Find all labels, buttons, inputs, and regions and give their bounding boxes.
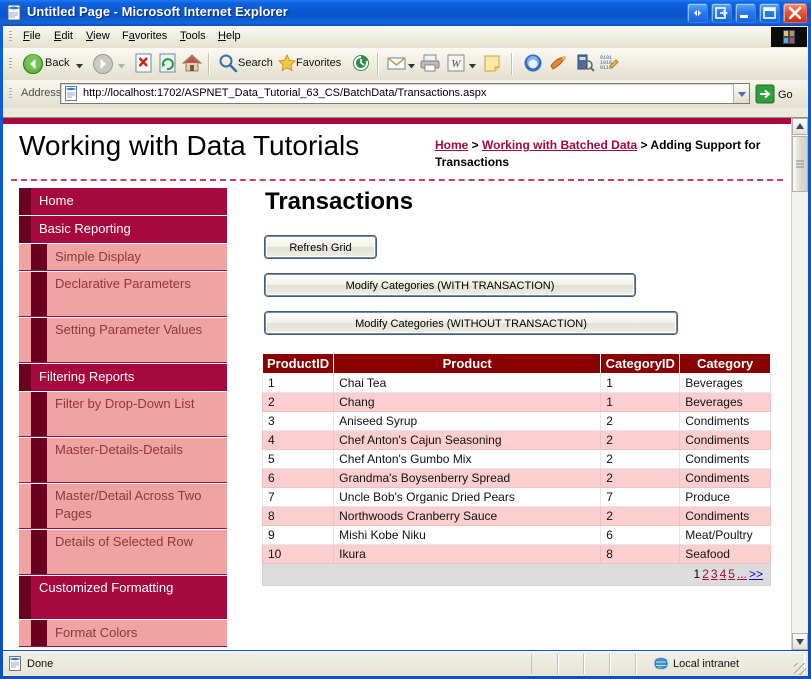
main-content: Transactions Refresh Grid Modify Categor… [251, 188, 771, 232]
cell-productid: 8 [263, 507, 334, 526]
cell-product: Northwoods Cranberry Sauce [334, 507, 601, 526]
breadcrumb-link-home[interactable]: Home [435, 138, 468, 152]
sidebar-item-filter-by-drop-down-list[interactable]: Filter by Drop-Down List [19, 392, 227, 437]
table-row: 2Chang1Beverages [263, 393, 771, 412]
menu-bar: File Edit View Favorites Tools Help [3, 26, 808, 48]
table-row: 10Ikura8Seafood [263, 545, 771, 564]
cell-category: Condiments [680, 507, 771, 526]
cell-category: Condiments [680, 450, 771, 469]
sidebar-item-accent [31, 438, 47, 482]
status-bar: Done Local intranet [3, 651, 808, 676]
table-row: 9Mishi Kobe Niku6Meat/Poultry [263, 526, 771, 545]
address-bar: Address http://localhost:1702/ASPNET_Dat… [3, 80, 808, 108]
favorites-star-icon[interactable] [276, 52, 298, 76]
sidebar-item-label: Filter by Drop-Down List [55, 395, 219, 413]
cell-productid: 10 [263, 545, 334, 564]
cell-product: Ikura [334, 545, 601, 564]
stop-button[interactable] [133, 52, 155, 76]
scroll-up-button[interactable] [792, 118, 808, 135]
home-button[interactable] [181, 52, 203, 76]
sidebar-item-accent [19, 188, 31, 215]
status-segment-4 [609, 654, 637, 674]
history-icon[interactable] [350, 52, 372, 76]
cell-product: Grandma's Boysenberry Spread [334, 469, 601, 488]
table-row: 1Chai Tea1Beverages [263, 374, 771, 393]
pager-page-ellipsisellipsisellipsis[interactable]: ... [737, 567, 747, 581]
col-header-product[interactable]: Product [334, 354, 601, 374]
sidebar-item-setting-parameter-values[interactable]: Setting Parameter Values [19, 318, 227, 363]
cell-product: Uncle Bob's Organic Dried Pears [334, 488, 601, 507]
scrollbar-thumb[interactable] [792, 136, 808, 192]
cell-category: Beverages [680, 374, 771, 393]
table-row: 5Chef Anton's Gumbo Mix2Condiments [263, 450, 771, 469]
cell-categoryid: 7 [601, 488, 680, 507]
cell-productid: 9 [263, 526, 334, 545]
browser-window: Untitled Page - Microsoft Internet Explo… [0, 0, 811, 679]
minimize-button[interactable] [735, 3, 756, 23]
cell-product: Chang [334, 393, 601, 412]
cell-productid: 7 [263, 488, 334, 507]
toolbar-separator [208, 53, 210, 75]
cell-categoryid: 2 [601, 450, 680, 469]
edit-with-word-icon[interactable]: W [445, 52, 467, 76]
ie-brand-logo [771, 27, 807, 47]
sidebar-item-label: Simple Display [55, 248, 141, 266]
window-title: Untitled Page - Microsoft Internet Explo… [27, 4, 288, 19]
col-header-category[interactable]: Category [680, 354, 771, 374]
grid-header-row: ProductID Product CategoryID Category [263, 354, 771, 374]
cell-product: Aniseed Syrup [334, 412, 601, 431]
cell-product: Chef Anton's Gumbo Mix [334, 450, 601, 469]
sidebar-item-label: Setting Parameter Values [55, 321, 219, 339]
go-button[interactable] [755, 84, 775, 109]
page-favicon-icon [64, 86, 79, 101]
grid-pager-row: 12345...>> [263, 564, 771, 586]
cell-category: Seafood [680, 545, 771, 564]
print-icon[interactable] [419, 52, 441, 76]
favorites-label[interactable]: Favorites [296, 57, 341, 69]
pager-page-2[interactable]: 2 [702, 567, 709, 581]
sidebar-item-accent [31, 620, 47, 646]
notes-icon[interactable] [481, 52, 503, 76]
sidebar-item-label: Master-Details-Details [55, 441, 219, 459]
menu-favorites[interactable]: Favorites [122, 30, 167, 42]
cell-category: Beverages [680, 393, 771, 412]
cell-category: Condiments [680, 469, 771, 488]
table-row: 7Uncle Bob's Organic Dried Pears7Produce [263, 488, 771, 507]
forward-dropdown [117, 57, 126, 81]
go-label[interactable]: Go [778, 89, 793, 101]
page-vertical-scrollbar[interactable] [791, 118, 808, 650]
products-grid: ProductID Product CategoryID Category 1C… [262, 353, 771, 586]
cell-product: Mishi Kobe Niku [334, 526, 601, 545]
sidebar-item-accent [31, 318, 47, 362]
sidebar-item-accent [19, 216, 31, 243]
sidebar-item-label: Basic Reporting [39, 221, 131, 237]
sidebar-item-basic-reporting[interactable]: Basic Reporting [19, 216, 227, 243]
cell-categoryid: 2 [601, 507, 680, 526]
menu-file[interactable]: File [23, 30, 41, 42]
pager-page-3[interactable]: 3 [711, 567, 718, 581]
address-input[interactable]: http://localhost:1702/ASPNET_Data_Tutori… [60, 83, 750, 104]
pager-links: 12345...>> [693, 567, 764, 581]
breadcrumb: Home > Working with Batched Data > Addin… [435, 137, 765, 171]
cell-category: Produce [680, 488, 771, 507]
sidebar-item-accent [31, 484, 47, 528]
cell-product: Chef Anton's Cajun Seasoning [334, 431, 601, 450]
cell-categoryid: 1 [601, 393, 680, 412]
table-row: 4Chef Anton's Cajun Seasoning2Condiments [263, 431, 771, 450]
search-label[interactable]: Search [238, 57, 273, 69]
back-button[interactable] [21, 52, 45, 76]
ie-document-icon [6, 4, 23, 21]
pager-page-4[interactable]: 4 [720, 567, 727, 581]
status-segment-1 [531, 654, 559, 674]
breadcrumb-sep-2: > [637, 138, 650, 152]
window-resize-grip[interactable] [794, 663, 806, 675]
breadcrumb-sep-1: > [468, 138, 482, 152]
cell-category: Condiments [680, 412, 771, 431]
menu-help[interactable]: Help [218, 30, 241, 42]
col-header-productid[interactable]: ProductID [263, 354, 334, 374]
close-button[interactable] [783, 3, 807, 23]
edit-dropdown[interactable] [468, 57, 477, 81]
sidebar-item-label: Home [39, 193, 74, 209]
forward-button [91, 52, 115, 76]
security-zone-text: Local intranet [673, 658, 739, 670]
sidebar-item-format-colors[interactable]: Format Colors [19, 620, 227, 647]
back-label[interactable]: Back [45, 57, 69, 69]
sidebar-item-home[interactable]: Home [19, 188, 227, 215]
page-status-icon [8, 656, 23, 671]
addressbar-grip[interactable] [9, 88, 12, 100]
sidebar-item-label: Filtering Reports [39, 369, 134, 385]
sidebar-item-simple-display[interactable]: Simple Display [19, 244, 227, 271]
modify-categories-with-transaction-button[interactable]: Modify Categories (WITH TRANSACTION) [265, 274, 635, 296]
cell-product: Chai Tea [334, 374, 601, 393]
toolbar: Back [3, 48, 808, 80]
modify-categories-without-transaction-button[interactable]: Modify Categories (WITHOUT TRANSACTION) [265, 312, 677, 334]
sidebar-item-label: Master/Detail Across Two Pages [55, 487, 219, 523]
cell-categoryid: 1 [601, 374, 680, 393]
cell-categoryid: 6 [601, 526, 680, 545]
messenger-icon[interactable] [522, 52, 544, 76]
table-row: 3Aniseed Syrup2Condiments [263, 412, 771, 431]
scroll-down-button[interactable] [792, 633, 808, 650]
cell-categoryid: 2 [601, 412, 680, 431]
sidebar-item-details-of-selected-row[interactable]: Details of Selected Row [19, 530, 227, 575]
cell-category: Condiments [680, 431, 771, 450]
title-bar: Untitled Page - Microsoft Internet Explo… [0, 0, 811, 26]
status-text: Done [27, 658, 53, 670]
back-dropdown[interactable] [75, 57, 84, 81]
address-dropdown-button[interactable] [733, 84, 749, 103]
sidebar-item-customized-formatting[interactable]: Customized Formatting [19, 576, 227, 619]
sidebar-item-accent [31, 392, 47, 436]
grid-body: 1Chai Tea1Beverages2Chang1Beverages3Anis… [263, 374, 771, 564]
pager-next-button[interactable]: >> [749, 567, 763, 581]
menubar-grip[interactable] [9, 31, 12, 43]
menu-edit[interactable]: Edit [54, 30, 73, 42]
address-label: Address [21, 87, 61, 99]
pager-page-5[interactable]: 5 [728, 567, 735, 581]
page-title: Transactions [265, 188, 771, 216]
search-icon[interactable] [217, 52, 239, 76]
cell-productid: 1 [263, 374, 334, 393]
cell-categoryid: 2 [601, 469, 680, 488]
mail-dropdown[interactable] [407, 57, 416, 81]
page-viewport: Working with Data Tutorials Home > Worki… [3, 117, 808, 650]
pager-current-page: 1 [694, 567, 701, 581]
toolbar-separator-2 [377, 53, 379, 75]
cell-categoryid: 8 [601, 545, 680, 564]
menu-view[interactable]: View [86, 30, 110, 42]
menu-tools[interactable]: Tools [180, 30, 206, 42]
restore-pair-button[interactable] [687, 3, 708, 23]
cell-productid: 4 [263, 431, 334, 450]
svg-text:W: W [451, 58, 461, 70]
table-row: 8Northwoods Cranberry Sauce2Condiments [263, 507, 771, 526]
address-value[interactable]: http://localhost:1702/ASPNET_Data_Tutori… [83, 87, 486, 99]
sidebar-item-label: Format Colors [55, 624, 137, 642]
refresh-button[interactable] [157, 52, 179, 76]
browser-chrome: File Edit View Favorites Tools Help [3, 26, 808, 117]
cell-categoryid: 2 [601, 431, 680, 450]
sidebar-item-accent [31, 244, 47, 270]
sidebar-item-accent [19, 576, 31, 619]
grid-pager-cell: 12345...>> [263, 564, 771, 586]
refresh-grid-button[interactable]: Refresh Grid [265, 236, 376, 258]
research-icon[interactable] [574, 52, 596, 76]
sidebar-item-label: Declarative Parameters [55, 275, 219, 293]
cell-productid: 2 [263, 393, 334, 412]
mail-icon[interactable] [386, 52, 408, 76]
status-segment-3 [583, 654, 611, 674]
site-title: Working with Data Tutorials [19, 130, 359, 162]
sidebar-item-label: Customized Formatting [39, 580, 219, 596]
status-segment-2 [557, 654, 585, 674]
popout-button[interactable] [711, 3, 732, 23]
sidebar-item-accent [19, 364, 31, 391]
grid-header: ProductID Product CategoryID Category [263, 354, 771, 374]
sidebar-item-filtering-reports[interactable]: Filtering Reports [19, 364, 227, 391]
globe-icon [654, 656, 669, 671]
sidebar-item-label: Details of Selected Row [55, 533, 219, 551]
toolbar-grip[interactable] [9, 58, 12, 70]
sidebar-nav: HomeBasic ReportingSimple DisplayDeclara… [19, 188, 227, 648]
col-header-categoryid[interactable]: CategoryID [601, 354, 680, 374]
sidebar-item-master-details-details[interactable]: Master-Details-Details [19, 438, 227, 483]
toolbar-separator-3 [511, 53, 513, 75]
sidebar-item-declarative-parameters[interactable]: Declarative Parameters [19, 272, 227, 317]
cell-category: Meat/Poultry [680, 526, 771, 545]
cell-productid: 6 [263, 469, 334, 488]
discuss-icon[interactable] [548, 52, 570, 76]
cell-productid: 3 [263, 412, 334, 431]
sidebar-item-accent [31, 272, 47, 316]
sidebar-item-master-detail-across-two-pages[interactable]: Master/Detail Across Two Pages [19, 484, 227, 529]
cell-productid: 5 [263, 450, 334, 469]
sidebar-item-accent [31, 530, 47, 574]
page-top-accent-bar [3, 118, 791, 124]
breadcrumb-link-section[interactable]: Working with Batched Data [482, 138, 637, 152]
table-row: 6Grandma's Boysenberry Spread2Condiments [263, 469, 771, 488]
maximize-button[interactable] [759, 3, 780, 23]
encoding-icon[interactable]: 0101 1010 0110 [598, 52, 620, 76]
web-page: Working with Data Tutorials Home > Worki… [3, 118, 791, 650]
header-divider [11, 179, 783, 181]
grid-footer: 12345...>> [263, 564, 771, 586]
